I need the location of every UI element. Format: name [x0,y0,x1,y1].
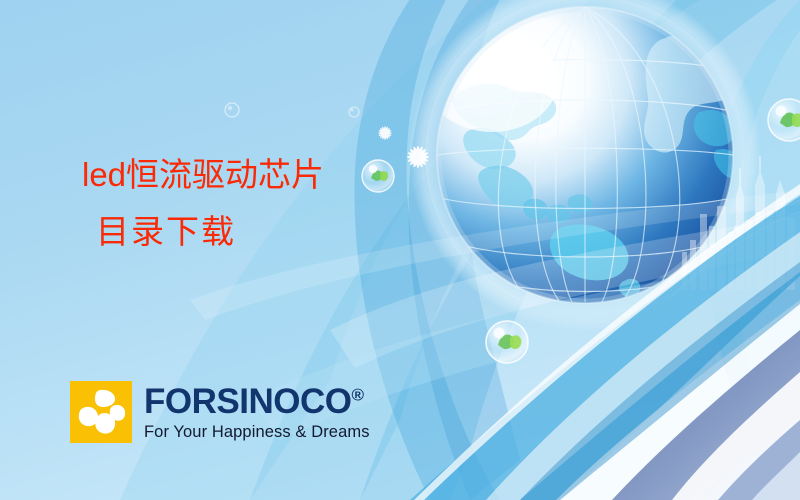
headline-line-1: led恒流驱动芯片 [82,158,324,191]
forsinoco-flower-mark-icon [70,381,132,443]
headline-text: led恒流驱动芯片 目录下载 [82,158,324,248]
logo-wordmark: FORSINOCO® For Your Happiness & Dreams [144,384,370,441]
registered-trademark-icon: ® [351,385,363,404]
city-skyline-silhouette [682,156,795,290]
brand-name-text: FORSINOCO [144,382,351,421]
corner-ribbon-bands [410,184,800,500]
poster-canvas: led恒流驱动芯片 目录下载 FORSINOCO® For Your Happi… [0,0,800,500]
headline-line-2: 目录下载 [96,215,324,248]
brand-tagline: For Your Happiness & Dreams [144,424,370,441]
brand-name: FORSINOCO® [144,384,370,419]
starburst-sparkle-group [378,126,429,168]
company-logo: FORSINOCO® For Your Happiness & Dreams [70,381,370,443]
